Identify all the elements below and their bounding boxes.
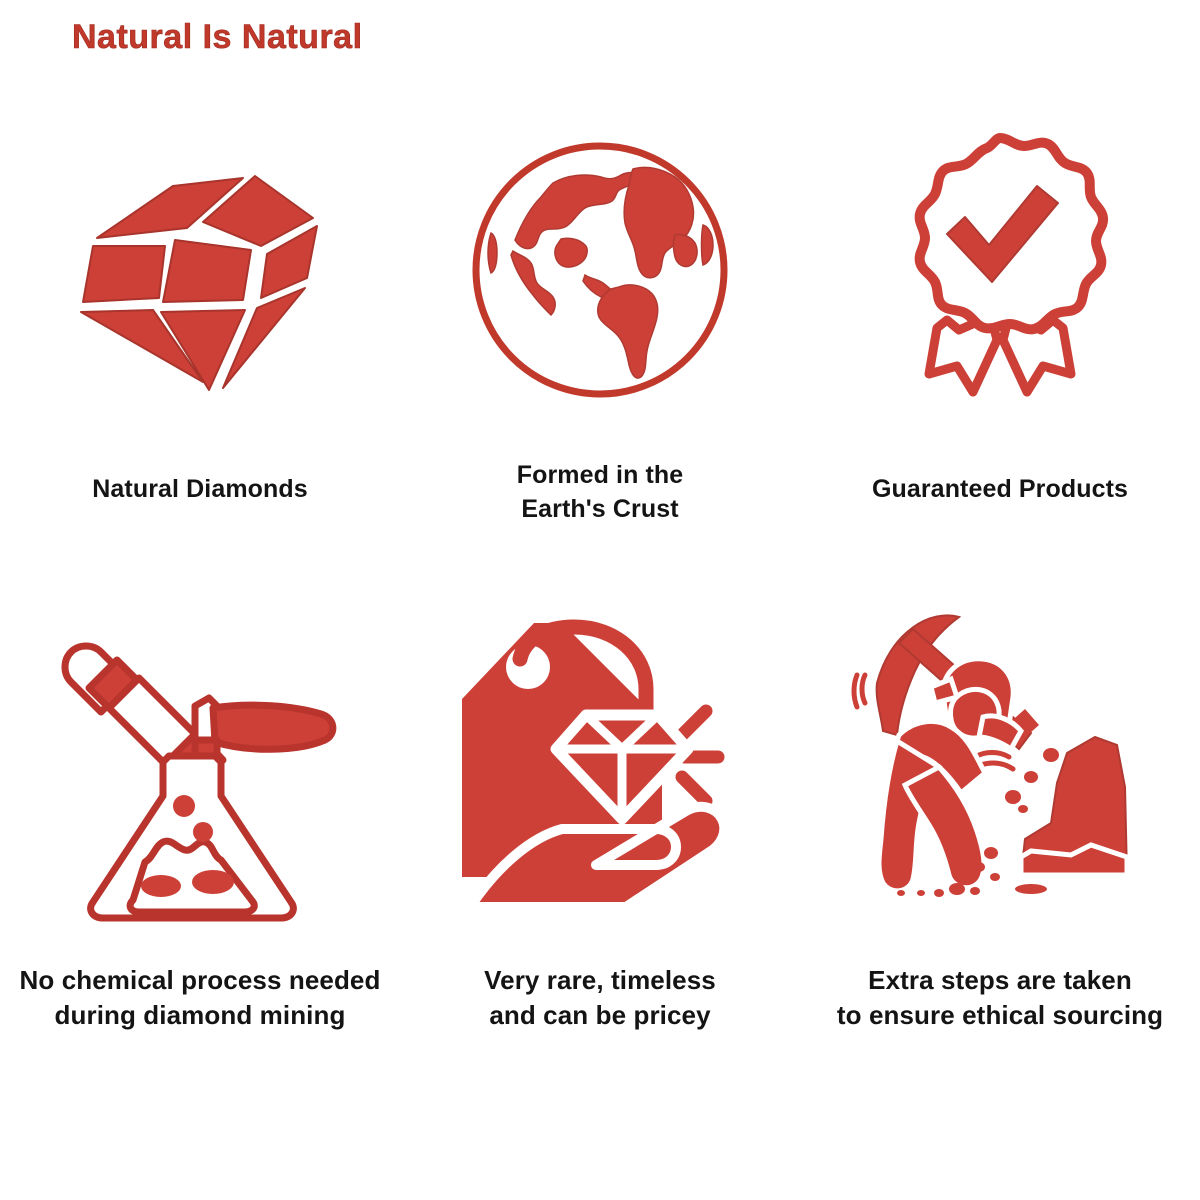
feature-cell-ethical-sourcing: Extra steps are taken to ensure ethical … xyxy=(800,585,1200,1110)
caption-ethical-sourcing: Extra steps are taken to ensure ethical … xyxy=(837,963,1163,1033)
caption-guaranteed-products: Guaranteed Products xyxy=(872,473,1128,507)
award-badge-check-icon xyxy=(830,95,1170,435)
feature-cell-earths-crust: Formed in the Earth's Crust xyxy=(400,95,800,585)
feature-cell-guaranteed-products: Guaranteed Products xyxy=(800,95,1200,585)
globe-earth-icon xyxy=(430,95,770,435)
feature-cell-natural-diamonds: Natural Diamonds xyxy=(0,95,400,585)
page-title: Natural Is Natural xyxy=(72,18,363,57)
diamond-gem-icon xyxy=(30,95,370,435)
feature-cell-very-rare: Very rare, timeless and can be pricey xyxy=(400,585,800,1110)
hand-holding-diamond-tag-icon xyxy=(430,585,770,945)
lab-flask-dropper-icon xyxy=(30,585,370,945)
caption-very-rare: Very rare, timeless and can be pricey xyxy=(484,963,716,1033)
caption-earths-crust: Formed in the Earth's Crust xyxy=(517,459,684,527)
caption-no-chemical-process: No chemical process needed during diamon… xyxy=(20,963,381,1033)
miner-pickaxe-rock-icon xyxy=(830,585,1170,945)
feature-cell-no-chemical-process: No chemical process needed during diamon… xyxy=(0,585,400,1110)
feature-grid: Natural Diamonds xyxy=(0,95,1200,1200)
caption-natural-diamonds: Natural Diamonds xyxy=(92,473,308,507)
